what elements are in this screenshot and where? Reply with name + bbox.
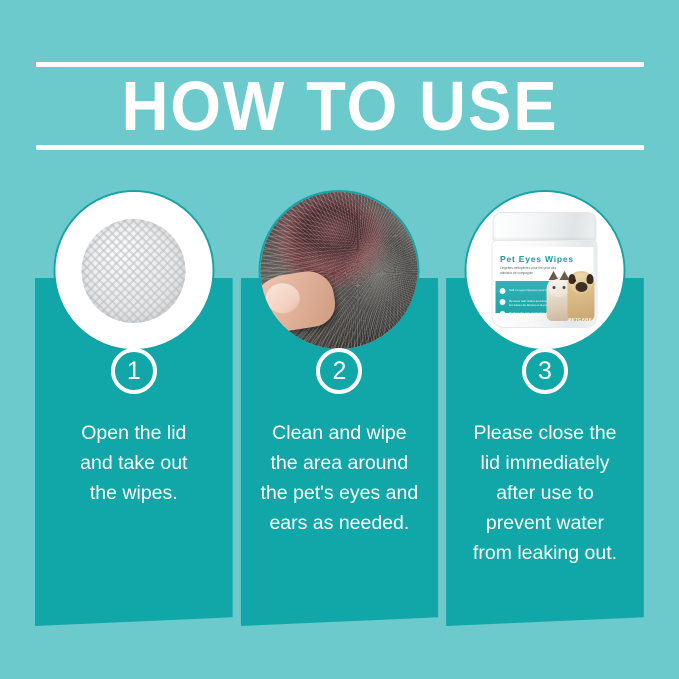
step-1-caption: Open the lid and take out the wipes. [43,418,225,508]
title-rule-bottom [36,145,644,150]
step-3: Pet Eyes Wipes Lingettes nettoyantes pou… [446,190,644,638]
step-1-media [53,190,214,351]
steps-row: 1 Open the lid and take out the wipes. 2… [35,190,644,638]
check-dot-icon [500,299,506,305]
step-1: 1 Open the lid and take out the wipes. [35,190,233,638]
step-3-number-badge: 3 [522,348,568,394]
jar-body: Pet Eyes Wipes Lingettes nettoyantes pou… [492,240,598,328]
step-2-caption: Clean and wipe the area around the pet's… [249,418,431,538]
check-dot-icon [500,288,506,294]
pug-muzzle [575,282,587,292]
step-3-caption: Please close the lid immediately after u… [454,418,636,568]
jar-brand-label: PETCARE [568,317,592,322]
cotton-wipe-pad-icon [82,219,186,323]
jar-lid [493,212,597,242]
step-2: 2 Clean and wipe the area around the pet… [241,190,439,638]
page-header: HOW TO USE [36,62,644,150]
step-2-media [259,190,420,351]
check-dot-icon [500,311,506,317]
fingernail [265,282,301,314]
jar-pet-illustration [547,253,595,321]
pug-face [570,273,593,294]
step-3-media: Pet Eyes Wipes Lingettes nettoyantes pou… [464,190,625,351]
step-1-number-badge: 1 [111,348,157,394]
pug-illustration [568,271,595,321]
cat-face [549,279,570,297]
product-jar: Pet Eyes Wipes Lingettes nettoyantes pou… [492,212,598,328]
page-title: HOW TO USE [57,68,622,144]
step-2-number-badge: 2 [316,348,362,394]
